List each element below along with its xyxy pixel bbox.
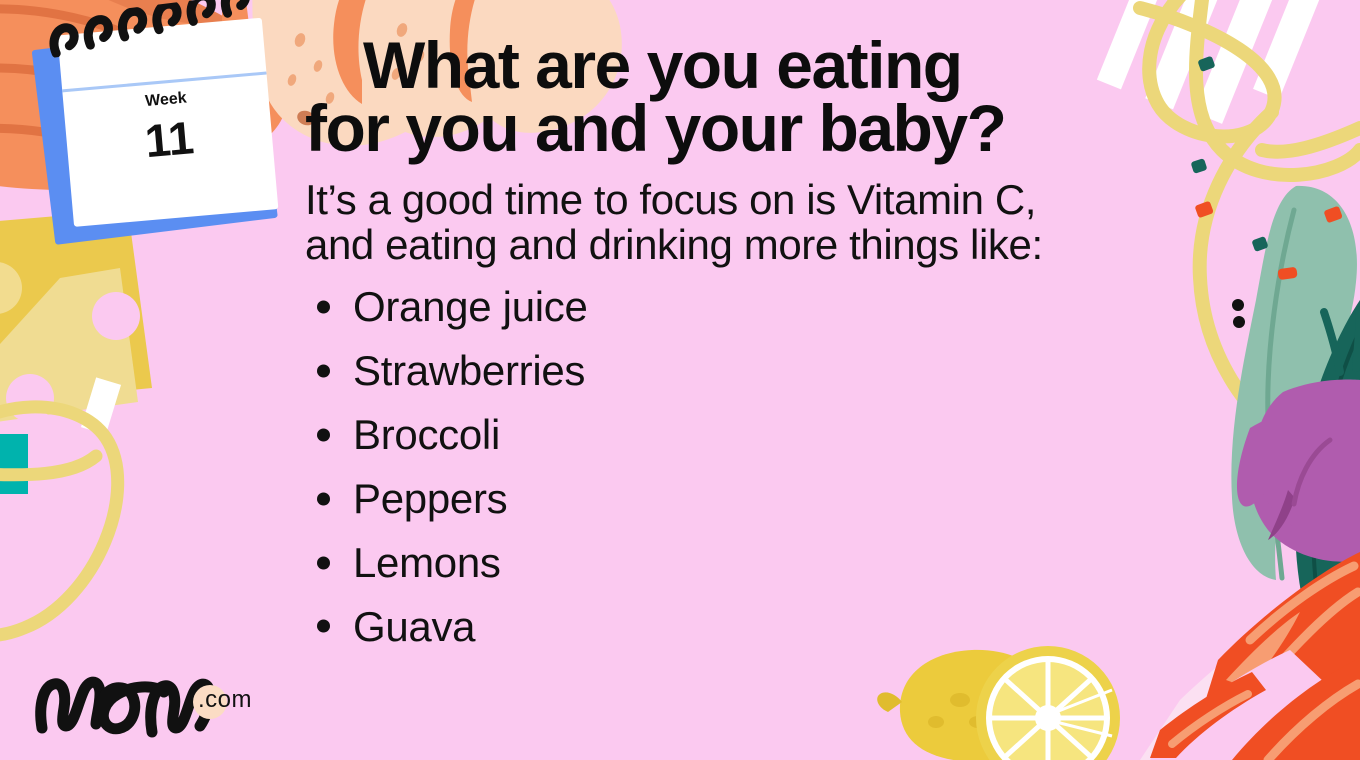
- list-item: Broccoli: [305, 403, 1265, 467]
- food-list: Orange juice Strawberries Broccoli Peppe…: [305, 275, 1265, 658]
- list-item: Guava: [305, 595, 1265, 659]
- mom-com-logo[interactable]: .com: [28, 662, 258, 738]
- list-item: Peppers: [305, 467, 1265, 531]
- list-item: Lemons: [305, 531, 1265, 595]
- headline-line-1: What are you eating: [305, 34, 1265, 97]
- poster-canvas: Week 11 What are you eating for you and …: [0, 0, 1360, 760]
- list-item: Orange juice: [305, 275, 1265, 339]
- intro-paragraph: It’s a good time to focus on is Vitamin …: [305, 177, 1265, 268]
- calendar-week-number: 11: [65, 107, 273, 171]
- calendar-week-label: Week: [145, 90, 188, 111]
- teal-rectangle-left: [0, 434, 28, 494]
- intro-line-1: It’s a good time to focus on is Vitamin …: [305, 177, 1265, 222]
- leaf-dark-teal-right: [1277, 300, 1360, 692]
- lemon-whole-bottom: [877, 650, 1058, 760]
- page-title: What are you eating for you and your bab…: [305, 34, 1265, 161]
- calendar-text: Week 11: [63, 83, 273, 171]
- week-calendar: Week 11: [26, 9, 282, 248]
- white-rect-left: [81, 377, 121, 434]
- noodle-curve-yellow-left: [0, 407, 118, 636]
- lemon-slice-bottom: [976, 646, 1120, 760]
- headline-line-2: for you and your baby?: [305, 97, 1265, 160]
- logo-tld: .com: [198, 686, 252, 714]
- poster-text-content: What are you eating for you and your bab…: [305, 34, 1265, 658]
- intro-line-2: and eating and drinking more things like…: [305, 222, 1265, 267]
- cheese-wedge-left-light: [0, 268, 140, 430]
- list-item: Strawberries: [305, 339, 1265, 403]
